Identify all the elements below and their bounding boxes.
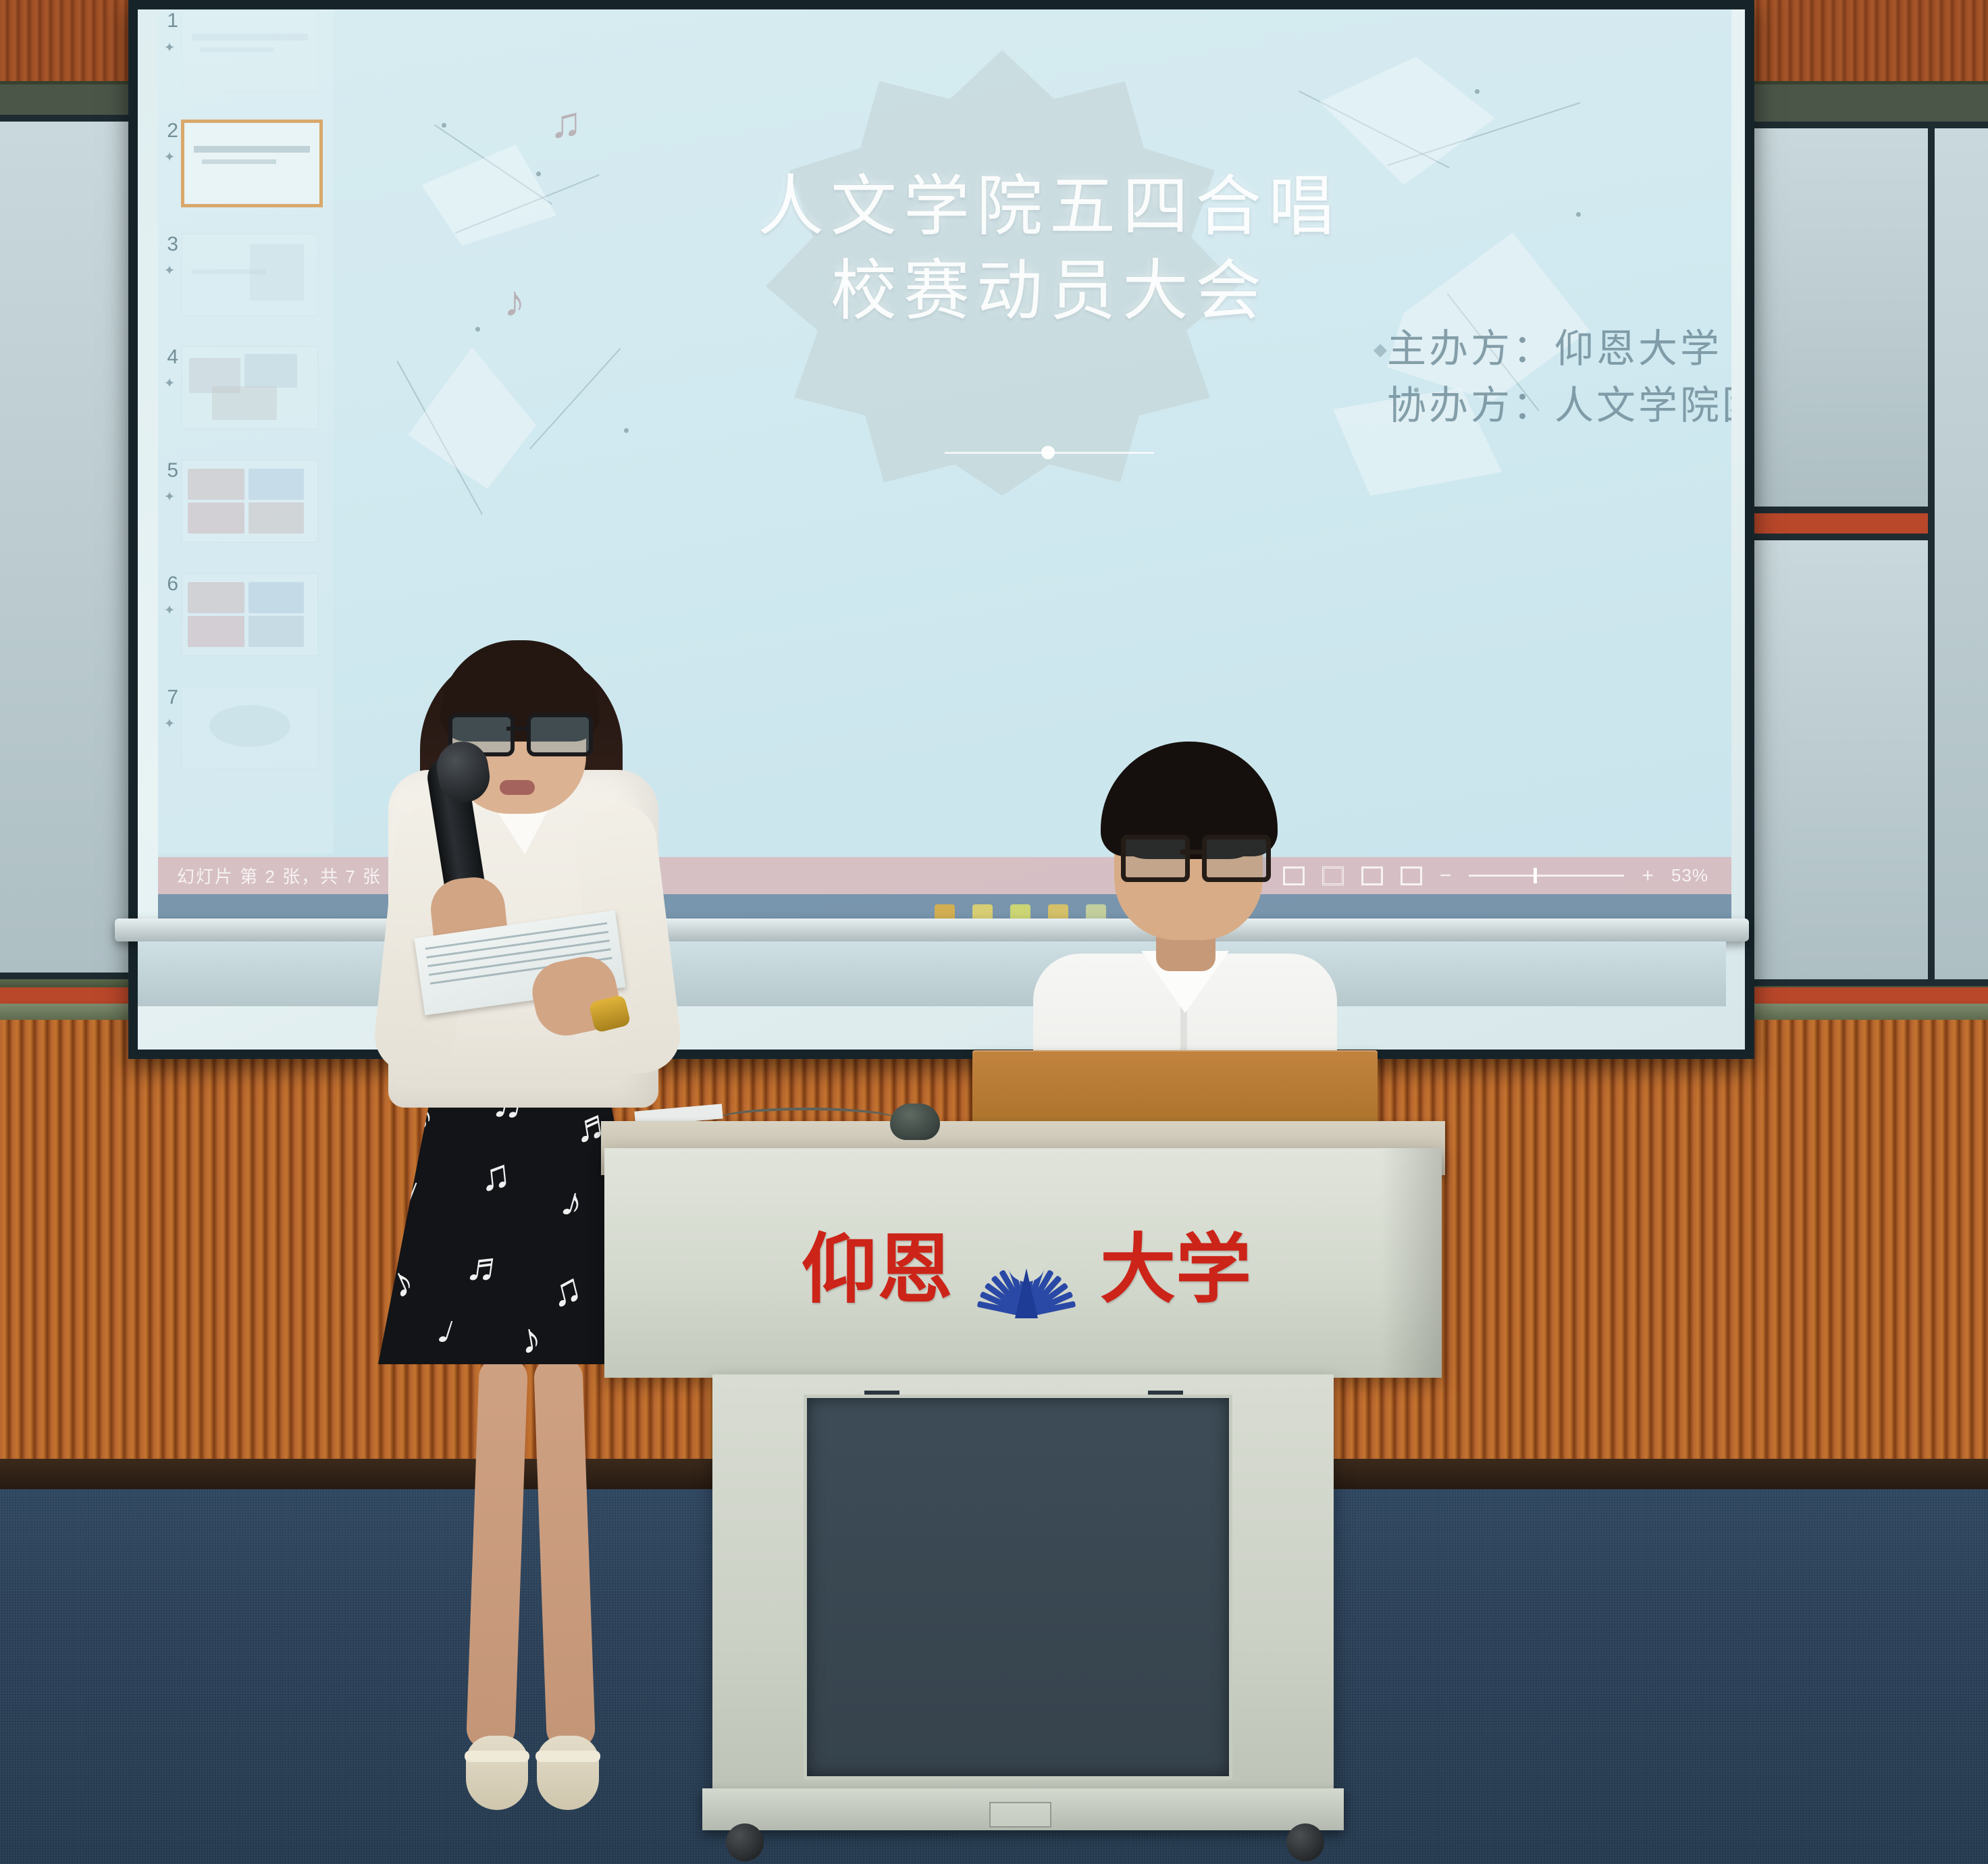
music-note-print-icon: ♪ bbox=[556, 1180, 588, 1226]
slide-counter-label: 幻灯片 第 2 张，共 7 张 bbox=[177, 863, 382, 888]
whiteboard-lower-panel bbox=[138, 941, 1726, 1006]
thumb-title-bar bbox=[194, 146, 310, 153]
decor-dot bbox=[624, 428, 629, 433]
thumbnail-number: 2 bbox=[161, 121, 178, 141]
thumb-picture bbox=[188, 469, 244, 500]
zoom-slider[interactable] bbox=[1469, 875, 1624, 877]
slide-thumbnail-7[interactable] bbox=[181, 686, 319, 770]
thumbnail-star-icon: ✦ bbox=[162, 39, 177, 56]
shoe-strap-left bbox=[465, 1751, 529, 1762]
lecture-hall-scene: 1 ✦ 2 ✦ 3 ✦ 4 ✦ bbox=[0, 0, 1988, 1864]
right-wall-panel-far bbox=[1928, 122, 1988, 986]
zoom-percent-label: 53% bbox=[1671, 865, 1708, 886]
shoe-strap-right bbox=[535, 1751, 600, 1762]
thumbnail-star-icon: ✦ bbox=[162, 149, 177, 165]
slide-credit-organizer: 主办方：仰恩大学 bbox=[1387, 320, 1731, 377]
lens-right bbox=[527, 713, 593, 756]
slide-thumbnail-4[interactable] bbox=[181, 346, 319, 430]
glasses-bridge bbox=[506, 727, 527, 731]
thumb-sub-bar bbox=[200, 47, 274, 52]
thumbnail-star-icon: ✦ bbox=[162, 602, 177, 619]
thumb-picture bbox=[188, 582, 244, 613]
origami-shape bbox=[421, 145, 556, 246]
thumbnail-number: 3 bbox=[161, 234, 178, 255]
caster-left bbox=[726, 1823, 764, 1861]
slide-thumbnail-3[interactable] bbox=[181, 233, 319, 317]
thumbnail-star-icon: ✦ bbox=[162, 488, 177, 505]
music-note-print-icon: ♫ bbox=[477, 1154, 513, 1199]
slide-sorter-icon[interactable] bbox=[1322, 866, 1344, 885]
eyeglasses bbox=[1121, 835, 1261, 873]
slide-thumbnail-6[interactable] bbox=[181, 573, 319, 656]
podium-logo: 仰恩 大学 bbox=[760, 1209, 1293, 1330]
slideshow-icon[interactable] bbox=[1401, 866, 1422, 885]
slide-thumbnail-1[interactable] bbox=[181, 9, 319, 93]
thumbnail-star-icon: ✦ bbox=[162, 375, 177, 392]
music-note-print-icon: ♪ bbox=[517, 1317, 544, 1362]
slide-title: 人文学院五四合唱 校赛动员大会 bbox=[691, 165, 1407, 334]
thumbnail-star-icon: ✦ bbox=[162, 262, 177, 279]
slide-thumbnail-rail[interactable]: 1 ✦ 2 ✦ 3 ✦ 4 ✦ bbox=[158, 9, 334, 854]
caster-right bbox=[1286, 1823, 1324, 1861]
slide-credits: 主办方：仰恩大学 协办方：人文学院团委 bbox=[1387, 320, 1731, 434]
lens-left bbox=[1121, 835, 1190, 882]
thumb-picture bbox=[244, 354, 297, 388]
decor-line bbox=[529, 348, 621, 449]
slide-thumbnail-5[interactable] bbox=[181, 459, 319, 543]
slide-credit-coorganizer: 协办方：人文学院团委 bbox=[1387, 377, 1731, 434]
slide-title-divider-dot bbox=[1041, 446, 1055, 459]
thumb-sub-bar bbox=[192, 269, 266, 274]
shoe-right bbox=[537, 1736, 599, 1810]
music-note-print-icon: ♬ bbox=[463, 1244, 511, 1291]
thumb-picture bbox=[248, 502, 304, 534]
thumb-picture bbox=[248, 469, 304, 500]
slide-thumbnail-2[interactable] bbox=[181, 120, 323, 207]
computer-mouse[interactable] bbox=[890, 1104, 940, 1140]
zoom-in-button[interactable]: + bbox=[1642, 866, 1654, 886]
thumb-picture bbox=[248, 616, 304, 647]
zoom-slider-handle[interactable] bbox=[1534, 868, 1537, 883]
slide-title-line-2: 校赛动员大会 bbox=[691, 249, 1407, 334]
glasses-bridge bbox=[1180, 850, 1202, 854]
decor-dot bbox=[1576, 212, 1581, 217]
decor-dot bbox=[1475, 89, 1480, 94]
zoom-out-button[interactable]: − bbox=[1440, 866, 1452, 886]
whiteboard-projection-screen: 1 ✦ 2 ✦ 3 ✦ 4 ✦ bbox=[128, 0, 1754, 1059]
thumb-picture bbox=[188, 502, 244, 534]
reading-view-icon[interactable] bbox=[1361, 866, 1383, 885]
thumbnail-number: 6 bbox=[161, 574, 178, 594]
thumbnail-number: 4 bbox=[161, 347, 178, 367]
thumb-picture bbox=[212, 386, 277, 420]
thumbnail-number: 1 bbox=[161, 11, 178, 31]
podium-logo-text-left: 仰恩 bbox=[802, 1232, 953, 1308]
music-note-print-icon: ♩ bbox=[432, 1308, 485, 1360]
whiteboard-marker-tray bbox=[115, 918, 1749, 941]
origami-shape bbox=[408, 347, 536, 489]
decor-dot bbox=[442, 123, 446, 128]
thumbnail-star-icon: ✦ bbox=[162, 715, 177, 732]
yangen-university-emblem-icon bbox=[976, 1216, 1077, 1324]
thumb-title-bar bbox=[192, 34, 308, 41]
podium-base-latch bbox=[989, 1802, 1051, 1828]
mouth bbox=[500, 780, 535, 795]
podium-logo-text-right: 大学 bbox=[1100, 1232, 1251, 1308]
credit-bullet-icon: ◆ bbox=[1374, 339, 1387, 360]
podium-front-panel: 仰恩 大学 bbox=[604, 1148, 1442, 1378]
thumb-picture bbox=[248, 582, 304, 613]
podium-equipment-recess bbox=[804, 1395, 1232, 1780]
shoe-left bbox=[466, 1736, 528, 1810]
lens-right bbox=[1202, 835, 1271, 882]
thumbnail-number: 7 bbox=[161, 688, 178, 708]
thumb-sub-bar bbox=[202, 159, 276, 164]
decor-dot bbox=[475, 327, 480, 332]
normal-view-icon[interactable] bbox=[1283, 866, 1305, 885]
thumb-picture bbox=[209, 705, 290, 747]
slide-title-line-1: 人文学院五四合唱 bbox=[691, 165, 1407, 249]
decor-dot bbox=[536, 172, 541, 176]
music-note-print-icon: ♫ bbox=[546, 1266, 586, 1314]
status-bar-right-group[interactable]: − + 53% bbox=[1283, 865, 1708, 886]
music-note-decor-icon: ♫ bbox=[550, 97, 582, 147]
thumbnail-number: 5 bbox=[161, 461, 178, 481]
music-note-decor-icon: ♪ bbox=[504, 276, 525, 326]
thumb-picture bbox=[188, 616, 244, 647]
